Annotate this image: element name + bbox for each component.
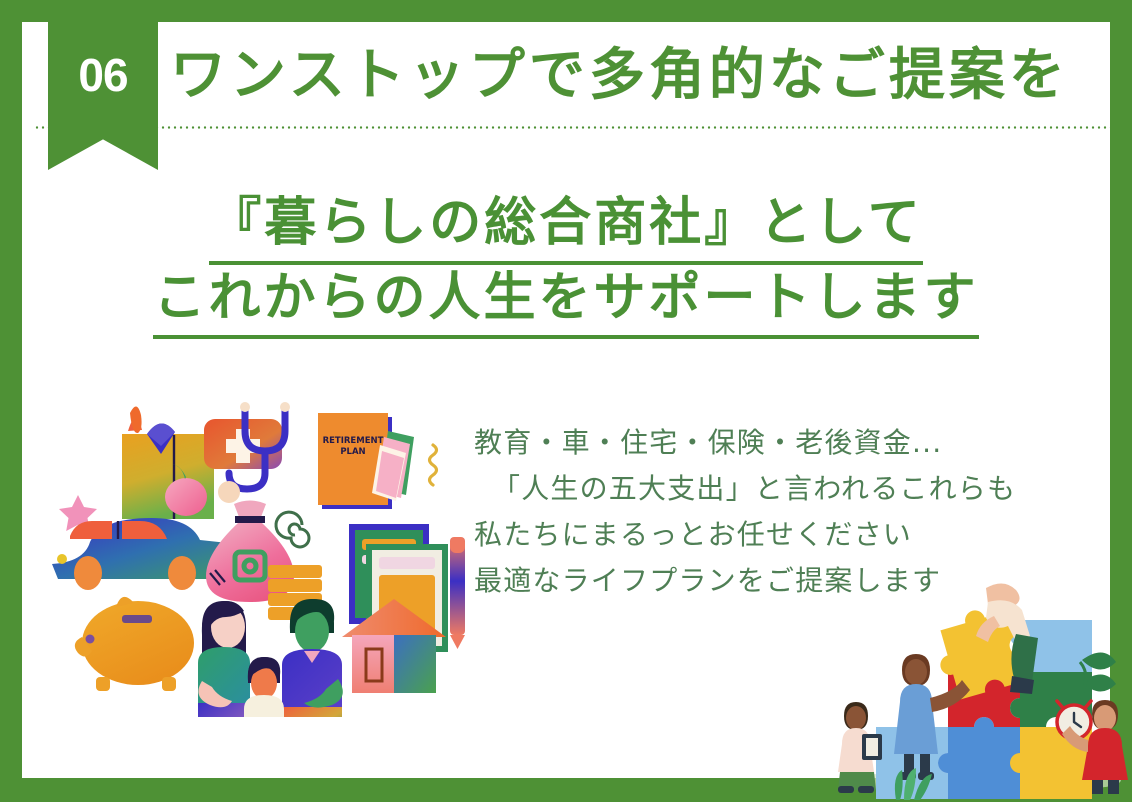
- heading-line-2: これからの人生をサポートします: [153, 265, 978, 340]
- body-line-2: 「人生の五大支出」と言われるこれらも: [474, 466, 1094, 512]
- retirement-plan-booklet-icon: RETIREMENT PLAN: [318, 413, 414, 509]
- heading-line-2-wrap: これからの人生をサポートします: [22, 265, 1110, 340]
- body-line-1: 教育・車・住宅・保険・老後資金...: [474, 420, 1094, 466]
- heading-line-1: 『暮らしの総合商社』として: [209, 190, 922, 265]
- retirement-plan-label-line2: PLAN: [340, 447, 365, 457]
- retirement-plan-label-line1: RETIREMENT: [323, 436, 384, 446]
- main-heading: 『暮らしの総合商社』として これからの人生をサポートします: [22, 190, 1110, 339]
- spiral-icon: [276, 512, 309, 547]
- body-line-3: 私たちにまるっとお任せください: [474, 512, 1094, 558]
- section-number-label: 06: [78, 52, 127, 98]
- heading-line-1-wrap: 『暮らしの総合商社』として: [22, 190, 1110, 265]
- piggy-bank-icon: [75, 597, 194, 691]
- life-expenses-illustration: RETIREMENT PLAN: [52, 387, 472, 717]
- slide-header: 06 ワンストップで多角的なご提案を: [22, 22, 1110, 152]
- section-number-ribbon: 06: [48, 0, 158, 170]
- squiggle-icon: [430, 445, 437, 485]
- slide-frame: 06 ワンストップで多角的なご提案を 『暮らしの総合商社』として これからの人生…: [0, 0, 1132, 800]
- puzzle-piece-blue: [938, 717, 1020, 799]
- teamwork-puzzle-illustration: [836, 572, 1132, 802]
- header-dotted-divider: [34, 126, 1110, 129]
- page-title: ワンストップで多角的なご提案を: [170, 48, 1100, 104]
- pencil-icon: [450, 537, 465, 649]
